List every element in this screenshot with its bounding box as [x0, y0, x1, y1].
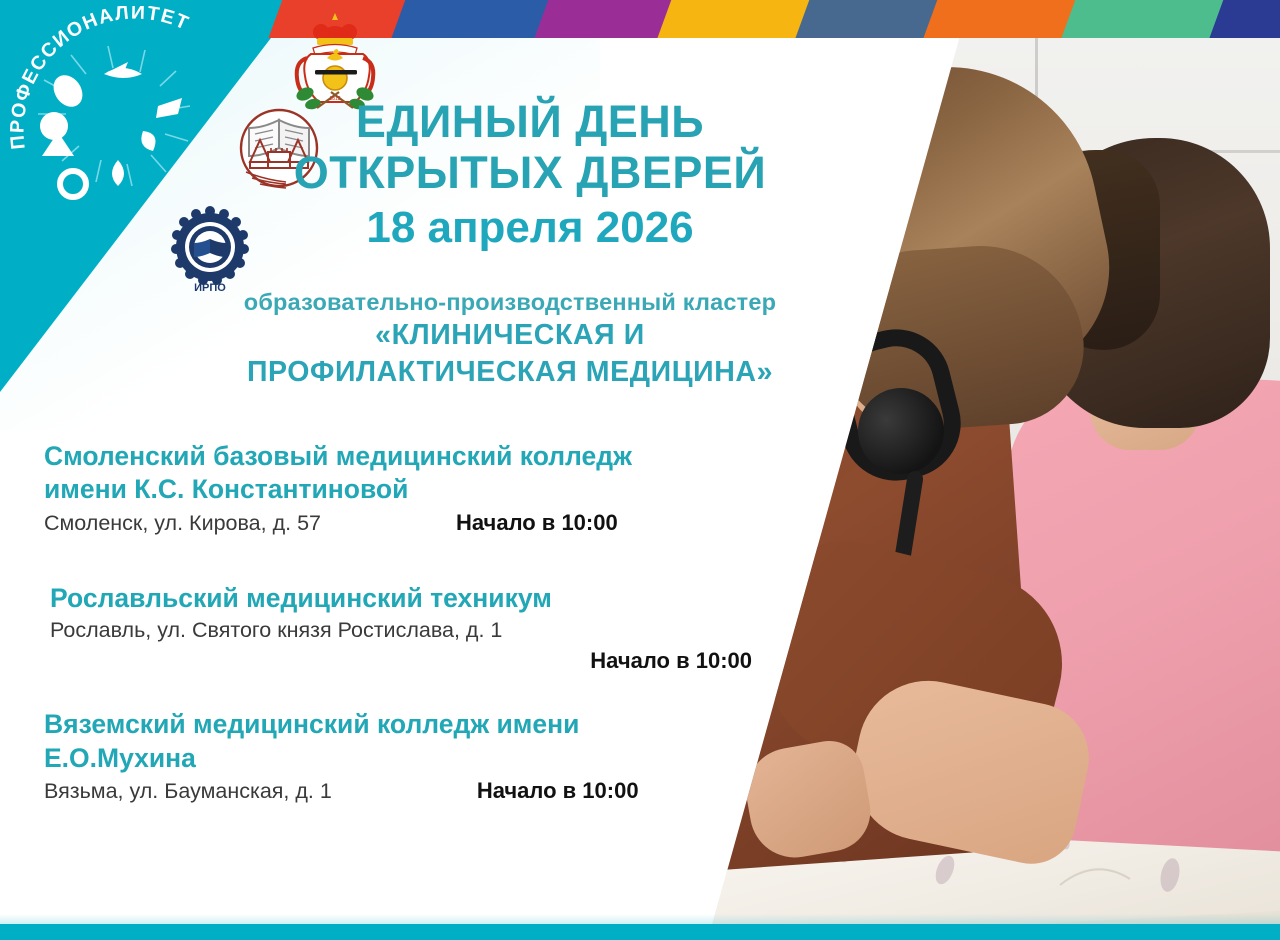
- headline-line-1: ЕДИНЫЙ ДЕНЬ: [180, 96, 880, 147]
- institution-details-row: Вязьма, ул. Бауманская, д. 1 Начало в 10…: [44, 778, 774, 804]
- institution-address: Вязьма, ул. Бауманская, д. 1: [44, 779, 332, 804]
- institution-address: Смоленск, ул. Кирова, д. 57: [44, 511, 321, 536]
- institution-details-row: Рославль, ул. Святого князя Ростислава, …: [50, 618, 774, 674]
- institution-start-time: Начало в 10:00: [50, 648, 774, 674]
- institution-name-line-1: Вяземский медицинский колледж имени: [44, 708, 774, 741]
- professionalitet-logo-text: ПРОФЕССИОНАЛИТЕТ: [8, 6, 193, 150]
- headline-line-2: ОТКРЫТЫХ ДВЕРЕЙ: [180, 147, 880, 198]
- cluster-prefix: образовательно-производственный кластер: [120, 288, 900, 317]
- institution-name-line-2: имени К.С. Константиновой: [44, 473, 774, 506]
- institution-name-line-1: Смоленский базовый медицинский колледж: [44, 440, 774, 473]
- list-item: Рославльский медицинский техникум Рослав…: [44, 582, 774, 674]
- stripe-segment-slate: [793, 0, 942, 38]
- headline-block: ЕДИНЫЙ ДЕНЬ ОТКРЫТЫХ ДВЕРЕЙ 18 апреля 20…: [180, 96, 880, 257]
- stripe-segment-yellow: [655, 0, 814, 38]
- institution-details-row: Смоленск, ул. Кирова, д. 57 Начало в 10:…: [44, 510, 774, 536]
- cluster-name-line-1: «КЛИНИЧЕСКАЯ И: [120, 317, 900, 354]
- list-item: Вяземский медицинский колледж имени Е.О.…: [44, 708, 774, 804]
- poster-root: ПРОФЕССИОНАЛИТЕТ: [0, 0, 1280, 940]
- bottom-teal-bar: [0, 924, 1280, 940]
- institution-address: Рославль, ул. Святого князя Ростислава, …: [50, 618, 502, 642]
- institution-list: Смоленский базовый медицинский колледж и…: [44, 440, 774, 830]
- institution-name-line-1: Рославльский медицинский техникум: [50, 582, 774, 615]
- cluster-name-line-2: ПРОФИЛАКТИЧЕСКАЯ МЕДИЦИНА»: [120, 354, 900, 391]
- bottom-bar-glow: [0, 914, 1280, 924]
- cluster-block: образовательно-производственный кластер …: [120, 288, 900, 391]
- institution-start-time: Начало в 10:00: [456, 510, 618, 536]
- institution-name-line-2: Е.О.Мухина: [44, 742, 774, 775]
- event-date: 18 апреля 2026: [180, 199, 880, 257]
- institution-start-time: Начало в 10:00: [477, 778, 639, 804]
- list-item: Смоленский базовый медицинский колледж и…: [44, 440, 774, 536]
- svg-text:ПРОФЕССИОНАЛИТЕТ: ПРОФЕССИОНАЛИТЕТ: [8, 6, 193, 150]
